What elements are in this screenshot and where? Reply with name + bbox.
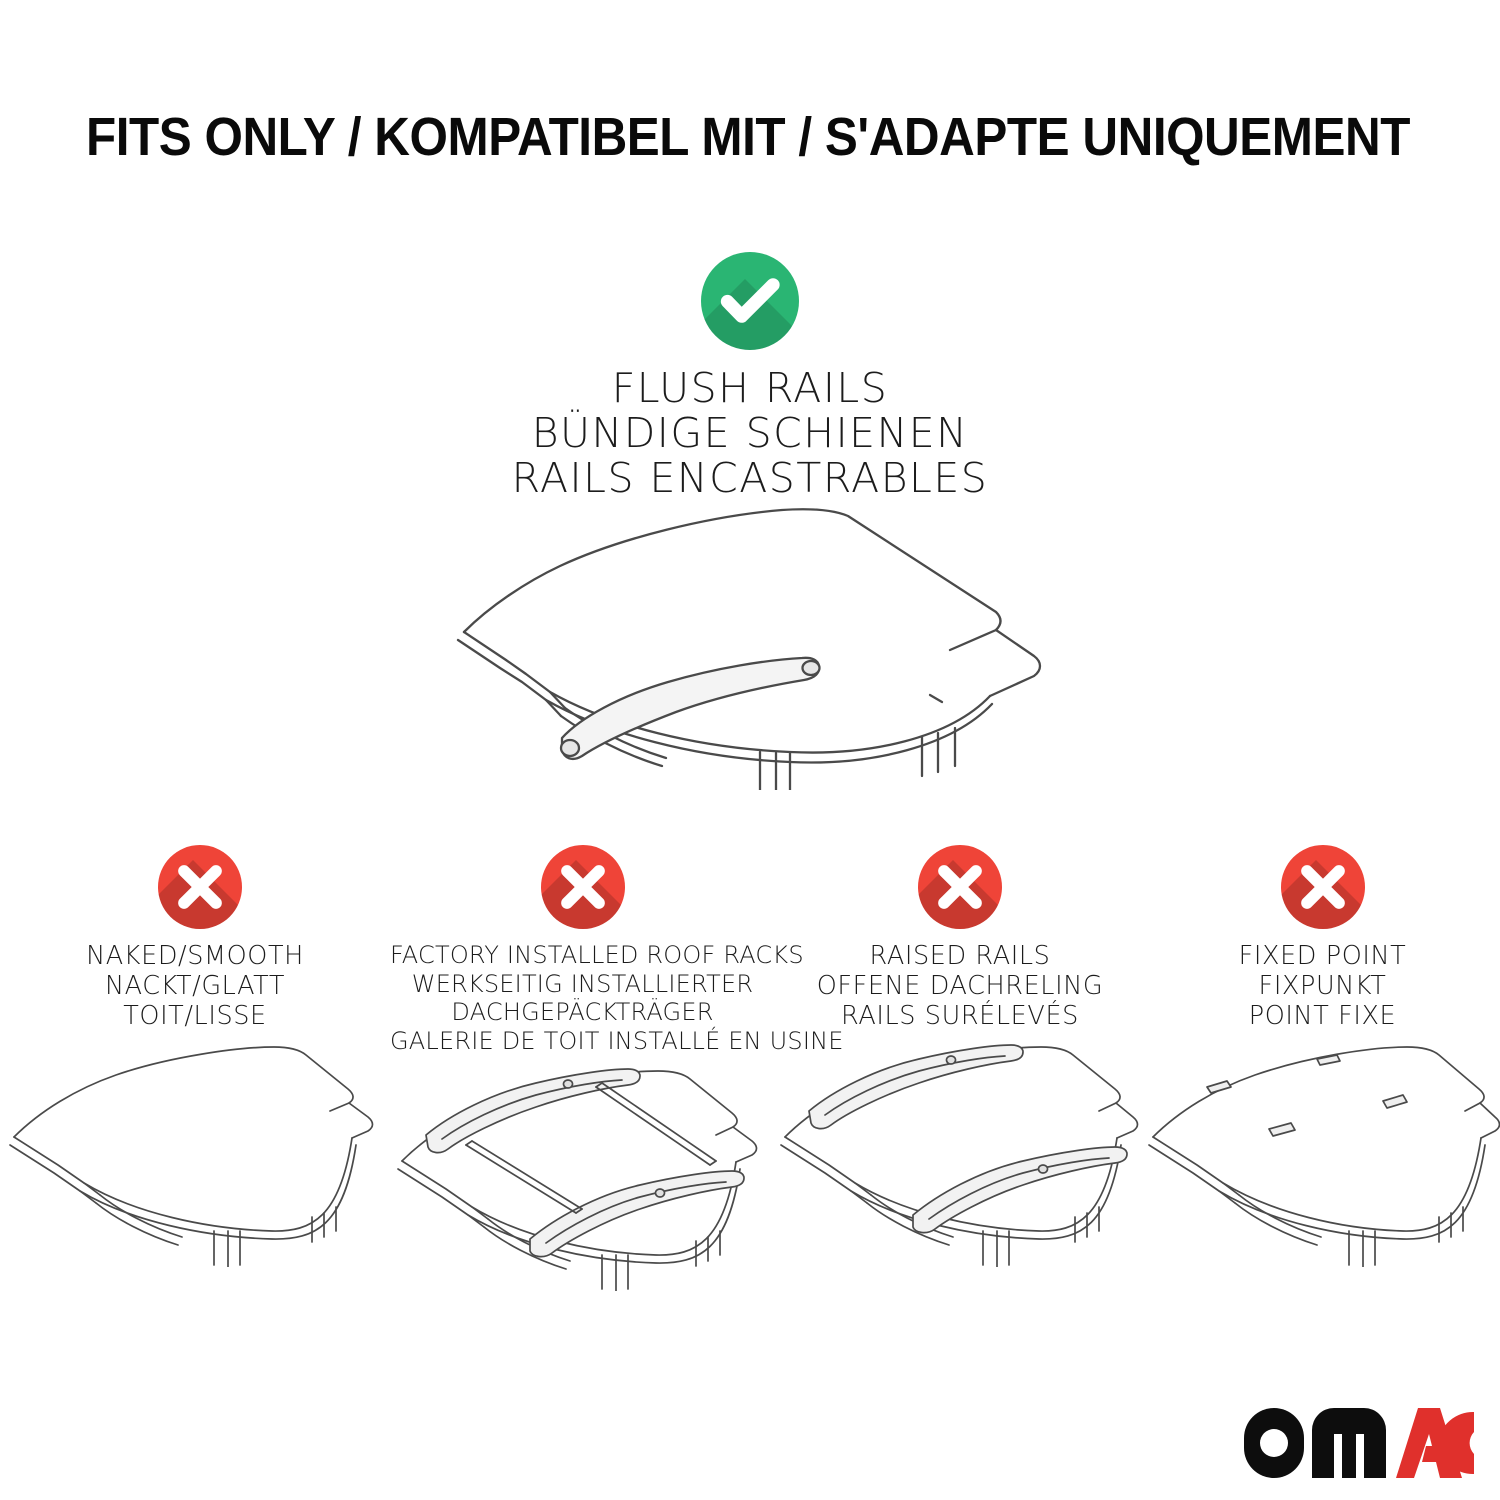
incompatible-badge-wrap [390, 845, 775, 941]
label-line-fr: GALERIE DE TOIT INSTALLÉ EN USINE [390, 1027, 775, 1056]
incompatible-item-raised-rails: RAISED RAILS OFFENE DACHRELING RAILS SUR… [775, 845, 1145, 1291]
page-title: FITS ONLY / KOMPATIBEL MIT / S'ADAPTE UN… [86, 106, 1312, 168]
compatible-section: FLUSH RAILS BÜNDIGE SCHIENEN RAILS ENCAS… [0, 252, 1500, 501]
label-line-de-1: WERKSEITIG INSTALLIERTER [390, 970, 775, 999]
incompatible-item-fixed-point: FIXED POINT FIXPUNKT POINT FIXE [1145, 845, 1500, 1291]
car-roof-naked-smooth-illustration [0, 1037, 390, 1267]
compatible-badge-wrap [0, 252, 1500, 356]
compatible-label-line-en: FLUSH RAILS [0, 366, 1500, 411]
cross-circle-icon [1281, 845, 1365, 929]
label-line-fr: POINT FIXE [1145, 1001, 1500, 1031]
car-roof-fixed-point-illustration [1145, 1037, 1500, 1267]
cross-circle-icon [918, 845, 1002, 929]
label-line-de-2: DACHGEPÄCKTRÄGER [390, 998, 775, 1027]
incompatible-badge-wrap [1145, 845, 1500, 941]
car-roof-raised-rails-illustration [775, 1037, 1145, 1267]
incompatible-badge-wrap [0, 845, 390, 941]
incompatible-label: FACTORY INSTALLED ROOF RACKS WERKSEITIG … [390, 941, 775, 1055]
check-circle-icon [701, 252, 799, 350]
compatible-label: FLUSH RAILS BÜNDIGE SCHIENEN RAILS ENCAS… [0, 366, 1500, 501]
label-line-en: FACTORY INSTALLED ROOF RACKS [390, 941, 775, 970]
incompatible-label: FIXED POINT FIXPUNKT POINT FIXE [1145, 941, 1500, 1031]
incompatible-section: NAKED/SMOOTH NACKT/GLATT TOIT/LISSE [0, 845, 1500, 1291]
label-line-en: NAKED/SMOOTH [0, 941, 390, 971]
label-line-en: RAISED RAILS [775, 941, 1145, 971]
incompatible-label: RAISED RAILS OFFENE DACHRELING RAILS SUR… [775, 941, 1145, 1031]
compatible-label-line-de: BÜNDIGE SCHIENEN [0, 411, 1500, 456]
label-line-en: FIXED POINT [1145, 941, 1500, 971]
label-line-de: FIXPUNKT [1145, 971, 1500, 1001]
cross-circle-icon [541, 845, 625, 929]
label-line-de: OFFENE DACHRELING [775, 971, 1145, 1001]
car-roof-factory-racks-illustration [390, 1061, 775, 1291]
incompatible-item-factory-racks: FACTORY INSTALLED ROOF RACKS WERKSEITIG … [390, 845, 775, 1291]
omac-logo [1238, 1408, 1474, 1478]
logo-letter-m [1312, 1408, 1386, 1478]
label-line-fr: TOIT/LISSE [0, 1001, 390, 1031]
car-roof-flush-rails-illustration [430, 490, 1090, 790]
label-line-fr: RAILS SURÉLEVÉS [775, 1001, 1145, 1031]
cross-circle-icon [158, 845, 242, 929]
incompatible-label: NAKED/SMOOTH NACKT/GLATT TOIT/LISSE [0, 941, 390, 1031]
incompatible-badge-wrap [775, 845, 1145, 941]
label-line-de: NACKT/GLATT [0, 971, 390, 1001]
incompatible-item-naked-smooth: NAKED/SMOOTH NACKT/GLATT TOIT/LISSE [0, 845, 390, 1291]
